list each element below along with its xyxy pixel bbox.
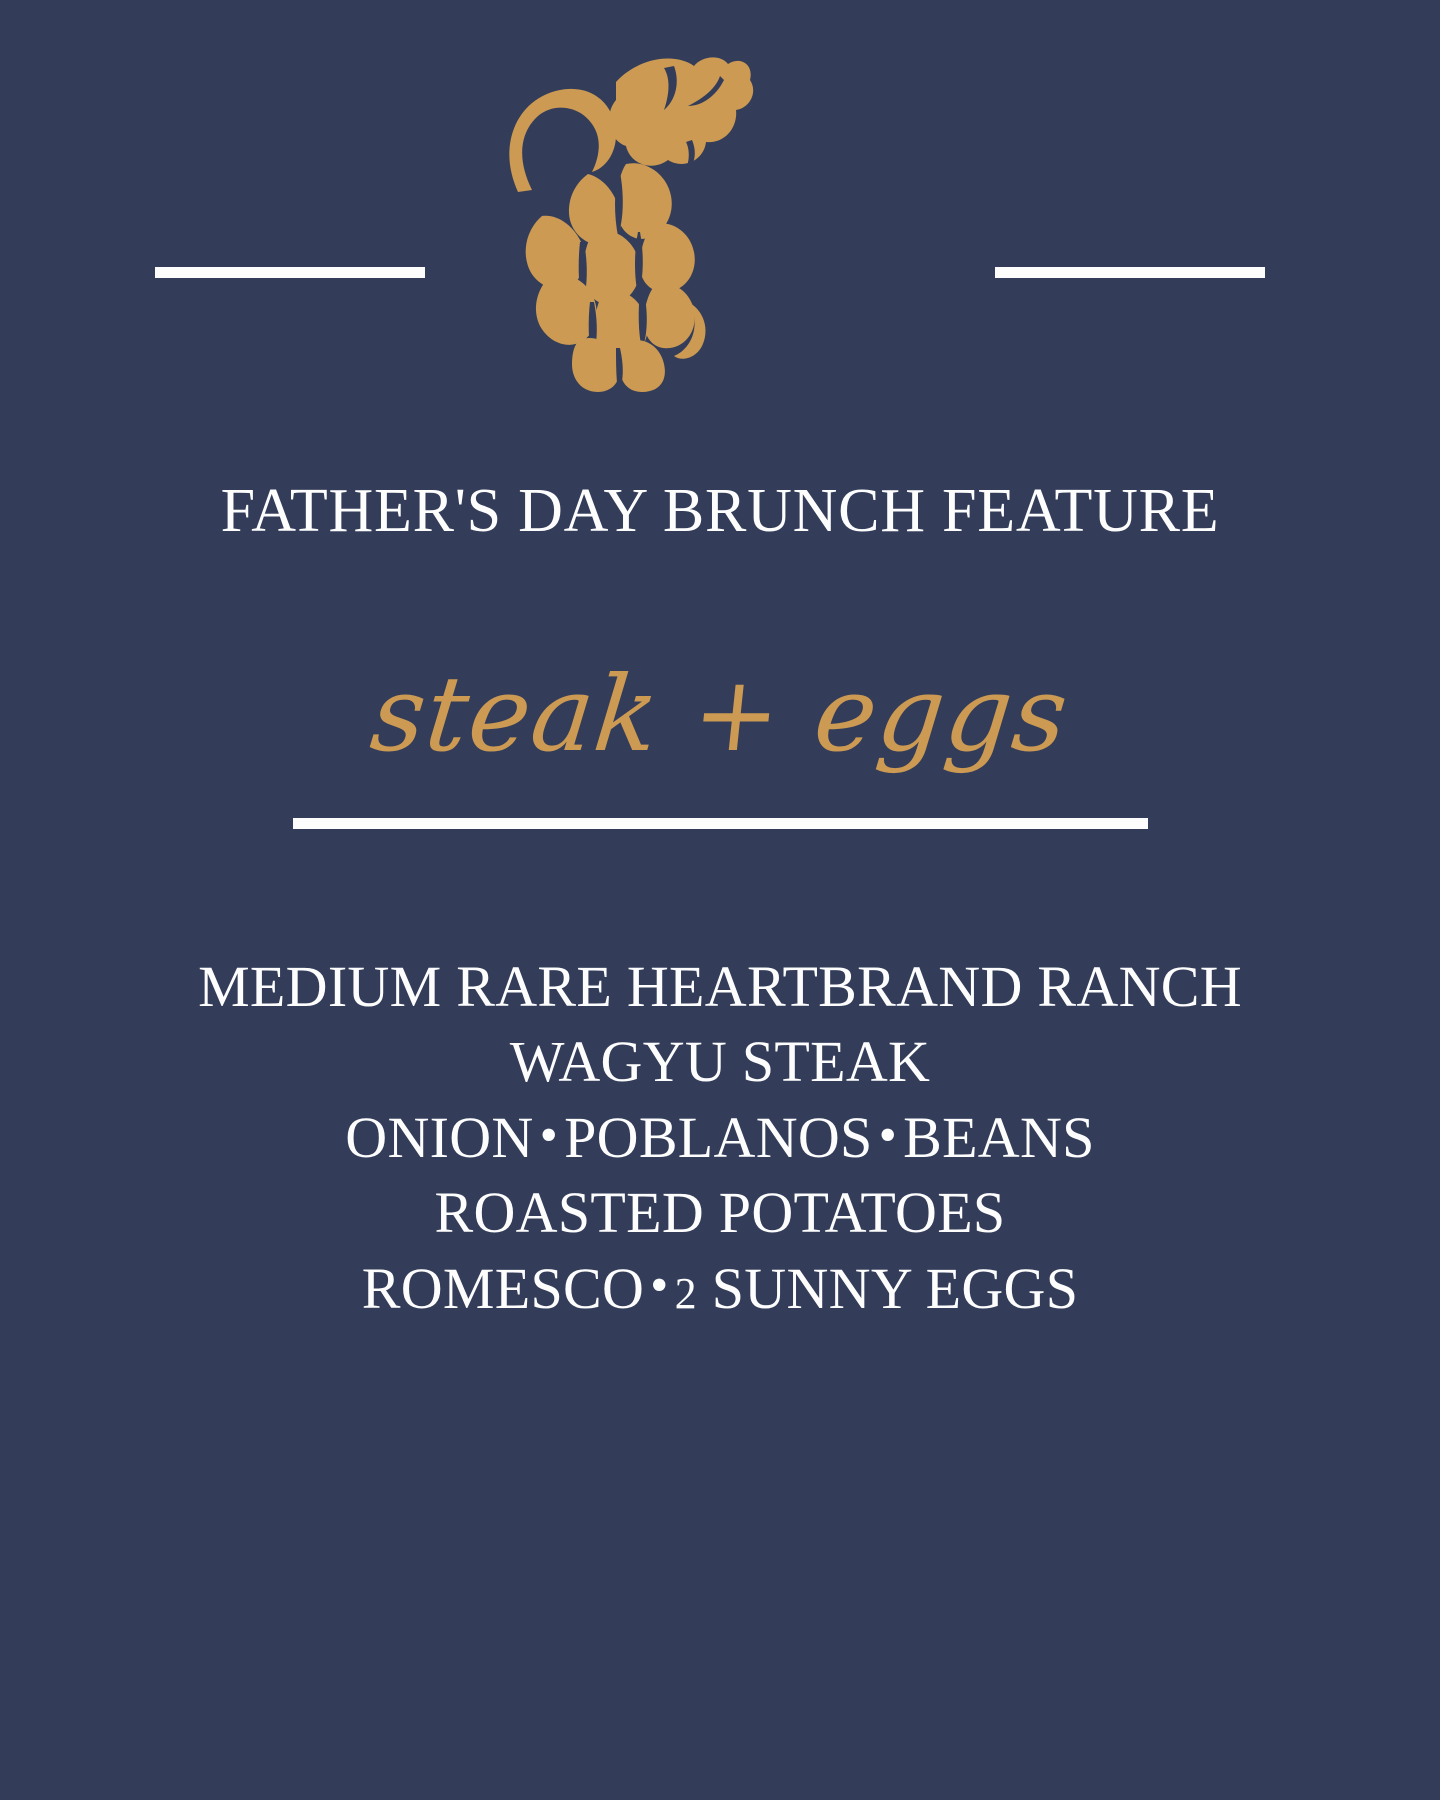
bullet-separator-icon: •: [644, 1252, 675, 1320]
description-line-1: MEDIUM RARE HEARTBRAND RANCH: [0, 949, 1440, 1024]
header-block: [0, 0, 1440, 420]
page-title: FATHER'S DAY BRUNCH FEATURE: [221, 480, 1220, 542]
hop-cone-icon: [488, 52, 758, 392]
sauce-sunny-eggs: SUNNY EGGS: [712, 1256, 1079, 1321]
feature-script-text: steak + eggs: [367, 662, 1073, 766]
header-rule-left: [155, 267, 425, 278]
description-block: MEDIUM RARE HEARTBRAND RANCH WAGYU STEAK…: [0, 949, 1440, 1326]
poster-canvas: FATHER'S DAY BRUNCH FEATURE steak + eggs…: [0, 0, 1440, 1800]
eggs-quantity: 2: [675, 1269, 697, 1318]
ingredient-poblanos: POBLANOS: [564, 1105, 873, 1170]
description-line-2: WAGYU STEAK: [0, 1024, 1440, 1099]
bullet-separator-icon: •: [534, 1102, 565, 1170]
bullet-separator-icon: •: [873, 1102, 904, 1170]
ingredient-onion: ONION: [345, 1105, 533, 1170]
description-ingredients-line: ONION•POBLANOS•BEANS: [0, 1100, 1440, 1175]
description-sauce-line: ROMESCO•2 SUNNY EGGS: [0, 1251, 1440, 1326]
ingredient-beans: BEANS: [903, 1105, 1095, 1170]
sauce-romesco: ROMESCO: [362, 1256, 644, 1321]
section-divider: [293, 818, 1148, 829]
header-rule-right: [995, 267, 1265, 278]
description-line-4: ROASTED POTATOES: [0, 1175, 1440, 1250]
